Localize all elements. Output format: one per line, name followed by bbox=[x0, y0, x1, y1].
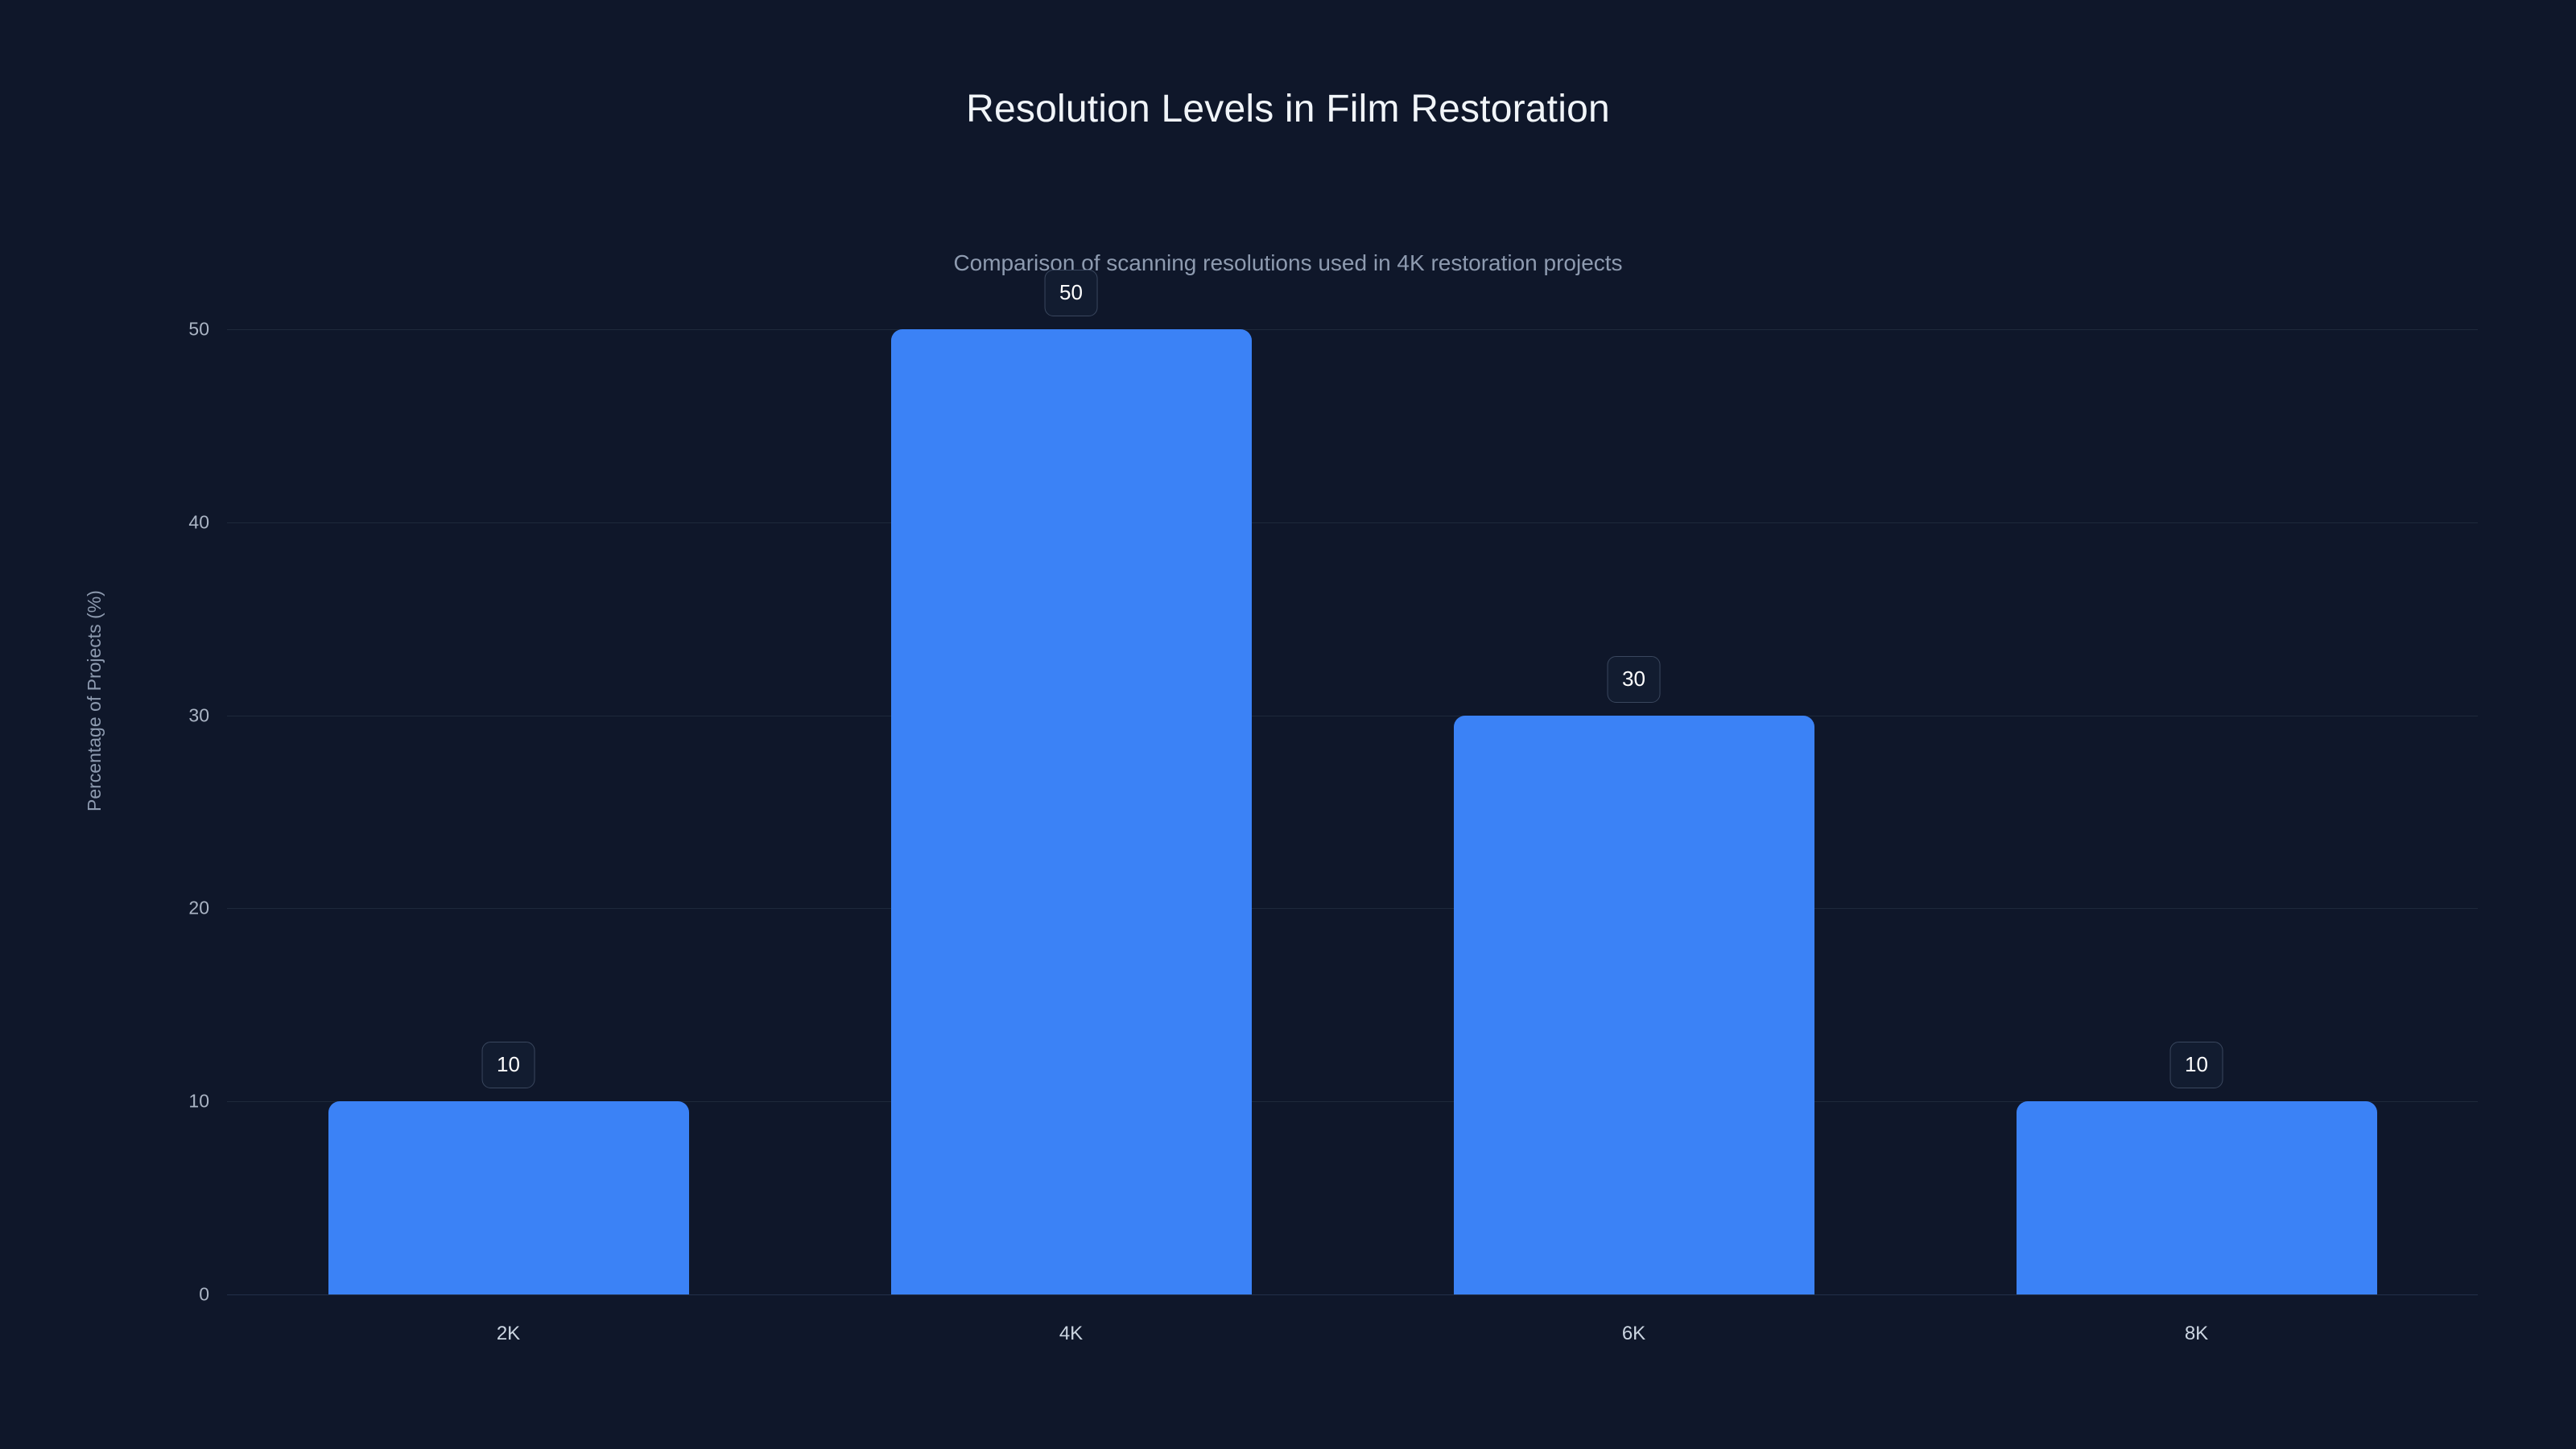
data-label-6k: 30 bbox=[1607, 656, 1661, 703]
gridline bbox=[227, 1294, 2478, 1295]
gridline bbox=[227, 329, 2478, 330]
plot-area bbox=[227, 329, 2478, 1294]
y-axis-tick-label: 0 bbox=[89, 1286, 209, 1304]
bar-2k[interactable] bbox=[328, 1101, 689, 1294]
bar-8k[interactable] bbox=[2017, 1101, 2377, 1294]
y-axis-tick-label: 50 bbox=[89, 320, 209, 339]
gridline bbox=[227, 716, 2478, 716]
gridline bbox=[227, 908, 2478, 909]
x-axis-tick-label-2k: 2K bbox=[497, 1324, 520, 1344]
x-axis-tick-label-8k: 8K bbox=[2185, 1324, 2208, 1344]
bar-6k[interactable] bbox=[1454, 716, 1814, 1294]
data-label-4k: 50 bbox=[1044, 270, 1098, 316]
y-axis-tick-label: 20 bbox=[89, 899, 209, 918]
bar-4k[interactable] bbox=[891, 329, 1252, 1294]
data-label-8k: 10 bbox=[2169, 1042, 2223, 1088]
chart-title: Resolution Levels in Film Restoration bbox=[0, 86, 2576, 133]
gridline bbox=[227, 522, 2478, 523]
y-axis-tick-label: 10 bbox=[89, 1092, 209, 1111]
chart-subtitle: Comparison of scanning resolutions used … bbox=[0, 250, 2576, 277]
x-axis-tick-label-6k: 6K bbox=[1622, 1324, 1645, 1344]
y-axis-tick-label: 40 bbox=[89, 513, 209, 531]
bar-chart-figure: Resolution Levels in Film Restoration Co… bbox=[0, 0, 2576, 1449]
y-axis-tick-label: 30 bbox=[89, 706, 209, 724]
data-label-2k: 10 bbox=[481, 1042, 535, 1088]
x-axis-tick-label-4k: 4K bbox=[1059, 1324, 1083, 1344]
y-axis-title: Percentage of Projects (%) bbox=[84, 590, 105, 811]
